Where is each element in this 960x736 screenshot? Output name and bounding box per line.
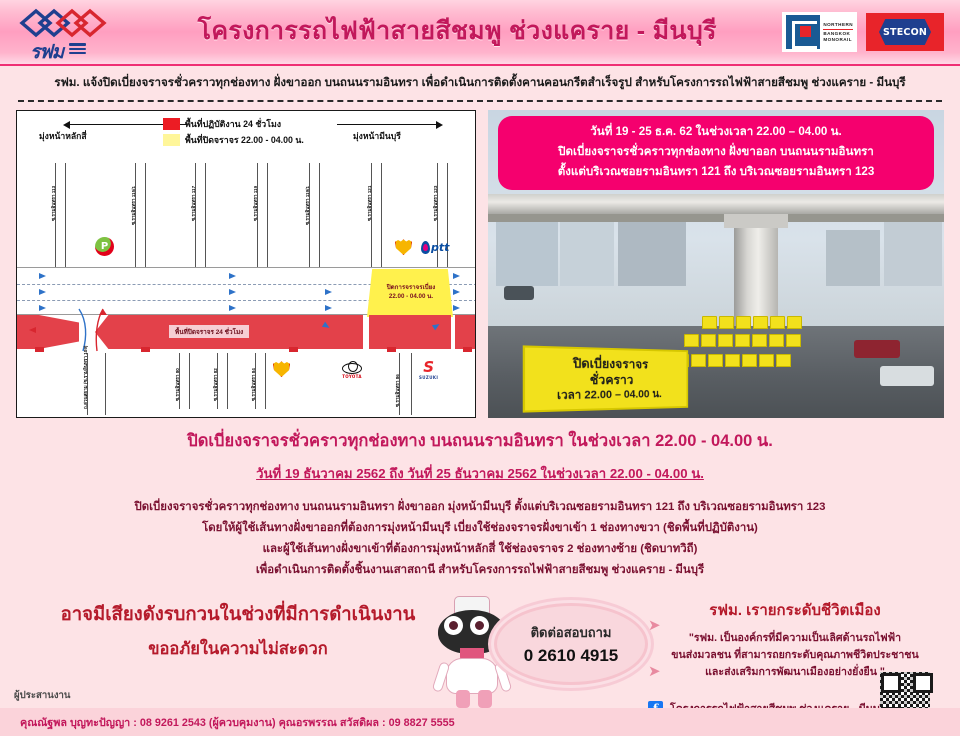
soi-label-south-86: ซ.รามอินทรา 86 bbox=[395, 374, 402, 407]
photo-building bbox=[884, 220, 942, 286]
flow-arrow-icon bbox=[325, 305, 332, 311]
sign-line2: ชั่วคราว bbox=[590, 372, 634, 389]
soi-label-south-80: ซ.รามอินทรา 80 bbox=[175, 368, 182, 401]
poster-root: รฟม โครงการรถไฟฟ้าสายสีชมพู ช่วงแคราย - … bbox=[0, 0, 960, 736]
vision-quote-line-2: ขนส่งมวลชน ที่สามารถยกระดับคุณภาพชีวิตปร… bbox=[640, 647, 950, 664]
sign-line1: ปิดเบี่ยงจราจร bbox=[573, 355, 648, 372]
yellow-zone-caption-line2: 22.00 - 04.00 น. bbox=[371, 292, 451, 301]
soi-tick bbox=[319, 163, 320, 267]
footer-contact-text: คุณณัฐพล บุญทะปัญญา : 08 9261 2543 (ผู้ค… bbox=[20, 714, 455, 731]
stecon-wordmark: STECON bbox=[883, 27, 927, 38]
legend-swatch-closed-area bbox=[163, 134, 180, 146]
soi-label-south-84: ซ.รามอินทรา 84 bbox=[251, 368, 258, 401]
south-side-blocks: ถ.สวนสยาม (ซ.รามอินทรา 109) ซ.รามอินทรา … bbox=[17, 349, 476, 418]
flow-arrow-icon bbox=[229, 305, 236, 311]
announcement-subtitle: รฟม. แจ้งปิดเบี่ยงจราจรชั่วคราวทุกช่องทา… bbox=[0, 74, 960, 92]
detail-line-2: โดยให้ผู้ใช้เส้นทางฝั่งขาออกที่ต้องการมุ… bbox=[0, 518, 960, 539]
brand-shell-icon bbox=[273, 361, 290, 377]
nbm-line-1: NORTHERN bbox=[823, 22, 853, 27]
flow-arrow-icon bbox=[453, 273, 460, 279]
nbm-line-2: BANGKOK bbox=[823, 31, 853, 36]
nbm-wordmark: NORTHERN BANGKOK MONORAIL bbox=[823, 22, 853, 41]
legend-swatch-work-area bbox=[163, 118, 180, 130]
direction-arrow-right-icon bbox=[337, 124, 437, 125]
apology-line-2: ขออภัยในความไม่สะดวก bbox=[38, 636, 438, 662]
red-zone-caption: พื้นที่ปิดจราจร 24 ชั่วโมง bbox=[169, 325, 249, 338]
flow-arrow-icon bbox=[229, 289, 236, 295]
stecon-diamond-icon: STECON bbox=[879, 19, 931, 45]
barrier-row bbox=[702, 316, 802, 329]
soi-label-north-119-1: ซ.รามอินทรา 119/1 bbox=[305, 186, 312, 225]
photo-notice-box: วันที่ 19 - 25 ธ.ค. 62 ในช่วงเวลา 22.00 … bbox=[498, 116, 934, 190]
soi-label-north-115-1: ซ.รามอินทรา 115/1 bbox=[131, 186, 138, 225]
contact-label: ติดต่อสอบถาม bbox=[531, 622, 612, 643]
mrta-wordmark-bars bbox=[69, 43, 86, 56]
apology-block: อาจมีเสียงดังรบกวนในช่วงที่มีการดำเนินงา… bbox=[38, 600, 438, 662]
soi-label-north-123: ซ.รามอินทรา 123 bbox=[433, 186, 440, 221]
reverse-flow-arrow-icon bbox=[29, 327, 36, 333]
photo-building bbox=[618, 214, 686, 286]
direction-label-left: มุ่งหน้าหลักสี่ bbox=[39, 129, 87, 143]
viaduct-girder bbox=[488, 194, 944, 214]
soi-tick bbox=[205, 163, 206, 267]
soi-label-south-82: ซ.รามอินทรา 82 bbox=[213, 368, 220, 401]
mascot-eye-left bbox=[444, 616, 463, 635]
header-bar: รฟม โครงการรถไฟฟ้าสายสีชมพู ช่วงแคราย - … bbox=[0, 0, 960, 66]
work-zone-red bbox=[455, 315, 476, 349]
photo-vehicle bbox=[504, 286, 534, 300]
work-zone-red bbox=[369, 315, 451, 349]
photo-notice-line2: ปิดเบี่ยงจราจรชั่วคราวทุกช่องทาง ฝั่งขาอ… bbox=[558, 143, 874, 161]
flow-arrow-icon bbox=[39, 305, 46, 311]
slogan-block: รฟม. เรายกระดับชีวิตเมือง "รฟม. เป็นองค์… bbox=[640, 598, 950, 681]
flow-arrow-icon bbox=[39, 273, 46, 279]
brand-toyota-icon: TOYOTA bbox=[337, 361, 367, 381]
monorail-mark-icon bbox=[786, 15, 820, 49]
flow-arrow-icon bbox=[453, 289, 460, 295]
flow-arrow-icon bbox=[39, 289, 46, 295]
soi-tick bbox=[381, 163, 382, 267]
detail-line-3: และผู้ใช้เส้นทางฝั่งขาเข้าที่ต้องการมุ่ง… bbox=[0, 539, 960, 560]
photo-vehicle bbox=[854, 340, 900, 358]
work-marker bbox=[463, 347, 472, 352]
sign-line3: เวลา 22.00 – 04.00 น. bbox=[557, 388, 662, 404]
vision-quote-line-1: "รฟม. เป็นองค์กรที่มีความเป็นเลิศด้านรถไ… bbox=[640, 630, 950, 647]
work-marker bbox=[141, 347, 150, 352]
flow-arrow-icon bbox=[229, 273, 236, 279]
detail-line-4: เพื่อดำเนินการติดตั้งชิ้นงานเสาสถานี สำห… bbox=[0, 560, 960, 581]
slogan-headline: รฟม. เรายกระดับชีวิตเมือง bbox=[640, 598, 950, 622]
soi-label-north-119: ซ.รามอินทรา 119 bbox=[253, 186, 260, 221]
nbm-divider bbox=[823, 29, 853, 31]
legend-label-closed-area: พื้นที่ปิดจราจร 22.00 - 04.00 น. bbox=[185, 133, 304, 147]
legend-label-work-area: พื้นที่ปฏิบัติงาน 24 ชั่วโมง bbox=[185, 117, 281, 131]
legend-item: พื้นที่ปิดจราจร 22.00 - 04.00 น. bbox=[163, 133, 304, 147]
soi-tick bbox=[265, 353, 266, 409]
mrta-chevron-icon bbox=[18, 6, 110, 40]
work-marker bbox=[289, 347, 298, 352]
page-title: โครงการรถไฟฟ้าสายสีชมพู ช่วงแคราย - มีนบ… bbox=[132, 11, 782, 54]
nbm-line-3: MONORAIL bbox=[823, 37, 853, 42]
brand-pt-icon bbox=[95, 237, 114, 256]
barrier-row bbox=[674, 354, 791, 367]
coordinator-label: ผู้ประสานงาน bbox=[14, 688, 70, 703]
traffic-diagram-panel: มุ่งหน้าหลักสี่ มุ่งหน้ามีนบุรี พื้นที่ป… bbox=[16, 110, 476, 418]
photo-notice-line1: วันที่ 19 - 25 ธ.ค. 62 ในช่วงเวลา 22.00 … bbox=[590, 123, 841, 141]
barrier-row bbox=[684, 334, 801, 347]
detail-line-1: ปิดเบี่ยงจราจรชั่วคราวทุกช่องทาง บนถนนรา… bbox=[0, 497, 960, 518]
photo-building bbox=[826, 230, 880, 286]
brand-ptt-icon: ptt bbox=[421, 241, 449, 254]
yellow-zone-caption-line1: ปิดการจราจรเบี่ยง bbox=[371, 283, 451, 292]
soi-tick bbox=[145, 163, 146, 267]
north-side-blocks: ซ.รามอินทรา 113 ซ.รามอินทรา 115/1 ซ.รามอ… bbox=[17, 163, 476, 267]
main-date-range: วันที่ 19 ธันวาคม 2562 ถึง วันที่ 25 ธัน… bbox=[0, 463, 960, 484]
flow-arrow-icon bbox=[325, 289, 332, 295]
main-headline: ปิดเบี่ยงจราจรชั่วคราวทุกช่องทาง บนถนนรา… bbox=[0, 428, 960, 454]
divider-dashed bbox=[18, 100, 942, 102]
soi-label-north-113: ซ.รามอินทรา 113 bbox=[51, 186, 58, 221]
main-announcement-text: ปิดเบี่ยงจราจรชั่วคราวทุกช่องทาง บนถนนรา… bbox=[0, 428, 960, 581]
mrta-logo: รฟม bbox=[14, 4, 132, 60]
legend-item: พื้นที่ปฏิบัติงาน 24 ชั่วโมง bbox=[163, 117, 304, 131]
soi-label-south-suan-siam: ถ.สวนสยาม (ซ.รามอินทรา 109) bbox=[83, 346, 90, 409]
soi-tick bbox=[65, 163, 66, 267]
mrta-wordmark-text: รฟม bbox=[30, 41, 63, 63]
soi-tick bbox=[267, 163, 268, 267]
merge-taper-icon bbox=[73, 307, 113, 353]
apology-line-1: อาจมีเสียงดังรบกวนในช่วงที่มีการดำเนินงา… bbox=[38, 600, 438, 629]
stecon-logo: STECON bbox=[866, 13, 944, 51]
soi-tick bbox=[411, 353, 412, 415]
soi-label-north-121: ซ.รามอินทรา 121 bbox=[367, 186, 374, 221]
mrta-wordmark: รฟม bbox=[30, 37, 86, 67]
mascot-leg-right bbox=[478, 690, 492, 708]
diagram-legend: พื้นที่ปฏิบัติงาน 24 ชั่วโมง พื้นที่ปิดจ… bbox=[163, 117, 304, 149]
contact-phone-number[interactable]: 0 2610 4915 bbox=[524, 646, 619, 666]
mascot-body bbox=[446, 658, 498, 694]
brand-suzuki-icon: S SUZUKI bbox=[419, 361, 438, 380]
northern-bangkok-monorail-logo: NORTHERN BANGKOK MONORAIL bbox=[782, 12, 857, 52]
contact-callout[interactable]: ติดต่อสอบถาม 0 2610 4915 bbox=[497, 606, 645, 682]
brand-shell-icon bbox=[395, 239, 412, 255]
work-marker bbox=[35, 347, 44, 352]
mascot-leg-left bbox=[456, 690, 470, 708]
yellow-zone-caption: ปิดการจราจรเบี่ยง 22.00 - 04.00 น. bbox=[371, 283, 451, 302]
photo-vehicle bbox=[880, 366, 934, 386]
direction-label-right: มุ่งหน้ามีนบุรี bbox=[353, 129, 401, 143]
soi-tick bbox=[189, 353, 190, 409]
mascot-eye-right bbox=[470, 616, 489, 635]
partner-logos: NORTHERN BANGKOK MONORAIL STECON bbox=[782, 12, 944, 52]
soi-tick bbox=[227, 353, 228, 409]
viaduct-girder-shadow bbox=[488, 214, 944, 222]
work-marker bbox=[387, 347, 396, 352]
soi-label-north-117: ซ.รามอินทรา 117 bbox=[191, 186, 198, 221]
footer-bar: คุณณัฐพล บุญทะปัญญา : 08 9261 2543 (ผู้ค… bbox=[0, 708, 960, 736]
soi-tick bbox=[105, 353, 106, 415]
site-photo-panel: วันที่ 19 - 25 ธ.ค. 62 ในช่วงเวลา 22.00 … bbox=[488, 110, 944, 418]
road-closure-sign: ปิดเบี่ยงจราจร ชั่วคราว เวลา 22.00 – 04.… bbox=[523, 345, 688, 412]
photo-building bbox=[560, 222, 614, 286]
viaduct-pier-cap bbox=[724, 214, 788, 228]
flow-arrow-icon bbox=[453, 305, 460, 311]
photo-notice-line3: ตั้งแต่บริเวณซอยรามอินทรา 121 ถึง บริเวณ… bbox=[558, 163, 875, 181]
